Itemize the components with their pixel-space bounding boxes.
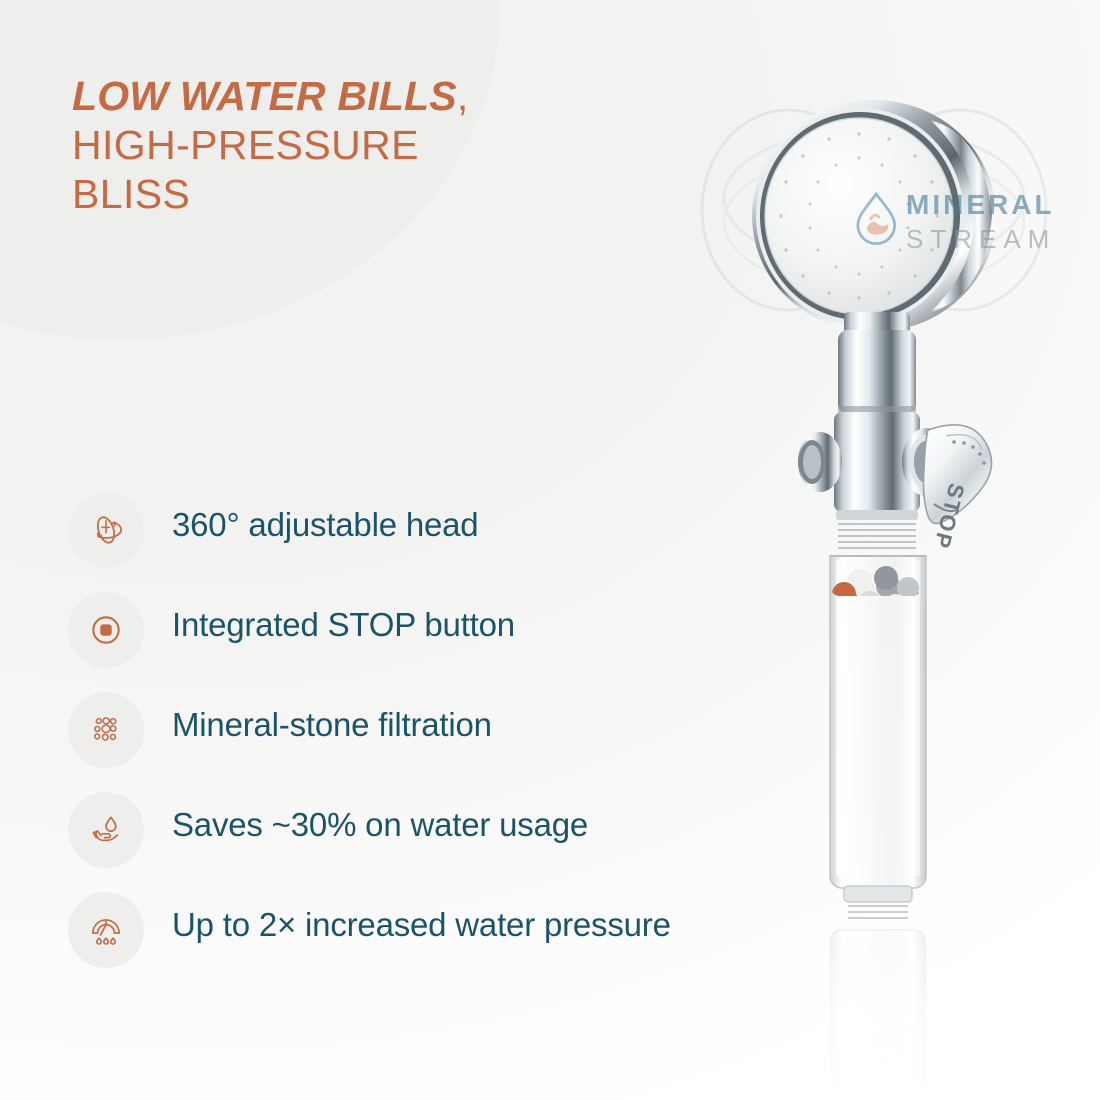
headline-line-1: LOW WATER BILLS, <box>72 72 632 121</box>
headline-line-3: BLISS <box>72 170 632 219</box>
headline-line-1-text: LOW WATER BILLS <box>72 73 457 119</box>
feature-icon-badge <box>68 892 144 968</box>
shower-head-illustration: MINERAL STREAM <box>660 90 1100 1100</box>
feature-label: Integrated STOP button <box>172 592 515 646</box>
feature-icon-badge <box>68 492 144 568</box>
brand-logo-line-1: MINERAL <box>906 189 1055 220</box>
product-image-shower-head: MINERAL STREAM <box>660 90 1100 1100</box>
rotate-360-icon <box>85 509 127 551</box>
headline-line-1-comma: , <box>457 73 469 119</box>
page-title: LOW WATER BILLS, HIGH-PRESSURE BLISS <box>72 72 632 220</box>
infographic-canvas: LOW WATER BILLS, HIGH-PRESSURE BLISS <box>0 0 1100 1100</box>
feature-icon-badge <box>68 692 144 768</box>
neck-pivot-cap-left <box>798 432 842 492</box>
filter-cartridge <box>830 556 926 888</box>
feature-label: Mineral-stone filtration <box>172 692 492 746</box>
hose-thread-upper <box>836 510 918 548</box>
feature-label: Saves ~30% on water usage <box>172 792 588 846</box>
feature-icon-badge <box>68 592 144 668</box>
surface-reflection <box>810 890 950 1100</box>
stop-lever[interactable]: STOP <box>924 425 992 553</box>
pressure-gauge-icon <box>85 909 127 951</box>
headline-line-2: HIGH-PRESSURE <box>72 121 632 170</box>
hand-water-drop-icon <box>85 809 127 851</box>
brand-logo-line-2: STREAM <box>906 224 1056 254</box>
feature-label: 360° adjustable head <box>172 492 478 546</box>
feature-label: Up to 2× increased water pressure <box>172 892 671 946</box>
stop-button-icon <box>85 609 127 651</box>
mineral-stones-icon <box>85 709 127 751</box>
feature-icon-badge <box>68 792 144 868</box>
